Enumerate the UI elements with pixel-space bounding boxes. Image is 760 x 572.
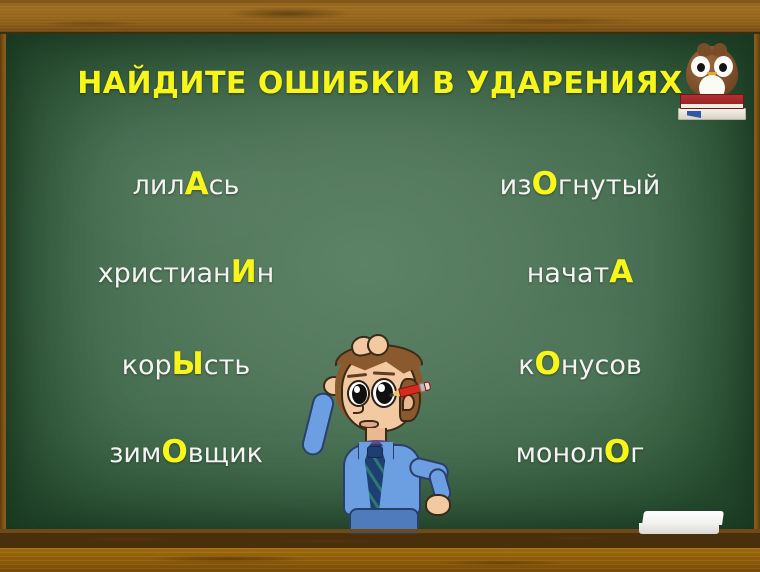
stressed-letter: О — [535, 346, 561, 382]
boy-eye-glint-left — [354, 386, 360, 393]
word-prefix: из — [500, 170, 532, 201]
word-suffix: сть — [204, 350, 251, 381]
pencil-eraser — [423, 381, 431, 391]
owl-pupil-left — [697, 63, 705, 72]
word-prefix: кор — [122, 350, 172, 381]
word-suffix: н — [257, 258, 275, 289]
stressed-letter: А — [185, 166, 209, 202]
word-prefix: христиан — [98, 258, 231, 289]
chalkboard-slide: НАЙДИТЕ ОШИБКИ В УДАРЕНИЯХ лилАсь христи… — [0, 0, 760, 572]
word-prefix: монол — [516, 438, 604, 469]
owl-icon — [686, 46, 738, 98]
word-suffix: гнутый — [558, 170, 660, 201]
word-prefix: к — [518, 350, 534, 381]
boy-right-hand — [425, 494, 451, 516]
word-suffix: нусов — [561, 350, 642, 381]
eraser-front-face — [639, 523, 719, 534]
word-suffix: сь — [209, 170, 240, 201]
word-item: лилАсь — [6, 166, 366, 202]
stressed-letter: А — [609, 254, 633, 290]
boy-necktie-knot — [367, 446, 383, 458]
word-item: христианИн — [6, 254, 366, 290]
stressed-letter: О — [161, 434, 187, 470]
red-book — [680, 94, 744, 109]
boy-left-arm — [300, 390, 337, 457]
word-item: изОгнутый — [400, 166, 760, 202]
word-prefix: зим — [109, 438, 161, 469]
stressed-letter: И — [231, 254, 257, 290]
word-suffix: г — [630, 438, 644, 469]
stressed-letter: Ы — [172, 346, 204, 382]
page-title: НАЙДИТЕ ОШИБКИ В УДАРЕНИЯХ — [0, 66, 760, 101]
book-stack-icon — [678, 94, 746, 120]
owl-on-books-icon — [676, 46, 748, 120]
stressed-letter: О — [532, 166, 558, 202]
thinking-boy-illustration — [305, 336, 470, 531]
word-suffix: вщик — [188, 438, 263, 469]
boy-eye-glint-right — [378, 384, 385, 392]
owl-pupil-right — [719, 63, 727, 72]
white-book — [678, 108, 746, 120]
frame-top — [0, 0, 760, 34]
word-prefix: лил — [133, 170, 185, 201]
stressed-letter: О — [604, 434, 630, 470]
word-prefix: начат — [527, 258, 609, 289]
chalkboard-eraser-icon — [639, 511, 723, 535]
frame-bottom — [0, 548, 760, 572]
word-item: начатА — [400, 254, 760, 290]
